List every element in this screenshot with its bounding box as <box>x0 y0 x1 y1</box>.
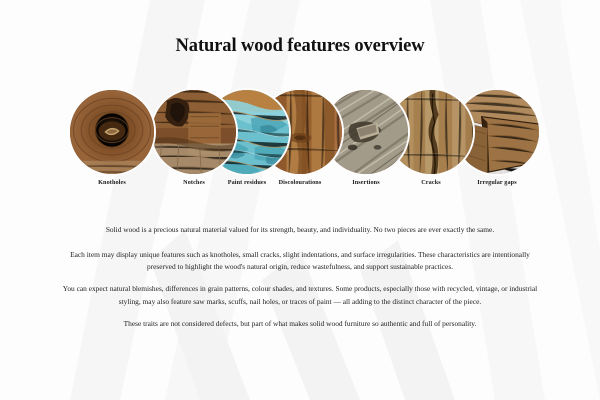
feature-item-knotholes[interactable]: Knotholes <box>68 88 156 176</box>
paragraph-unique-features: Each item may display unique features su… <box>50 249 550 274</box>
feature-label-knotholes: Knotholes <box>50 179 174 186</box>
notches-image <box>150 88 238 176</box>
paragraph-not-defects: These traits are not considered defects,… <box>50 318 550 331</box>
paragraph-natural-blemishes: You can expect natural blemishes, differ… <box>50 283 550 308</box>
paragraph-intro: Solid wood is a precious natural materia… <box>50 224 550 237</box>
wood-features-strip: Knotholes <box>0 88 600 198</box>
page-title: Natural wood features overview <box>0 36 600 57</box>
feature-item-notches[interactable]: Notches <box>150 88 238 176</box>
document-page: Natural wood features overview <box>0 0 600 400</box>
knotholes-image <box>68 88 156 176</box>
body-copy: Solid wood is a precious natural materia… <box>50 224 550 331</box>
